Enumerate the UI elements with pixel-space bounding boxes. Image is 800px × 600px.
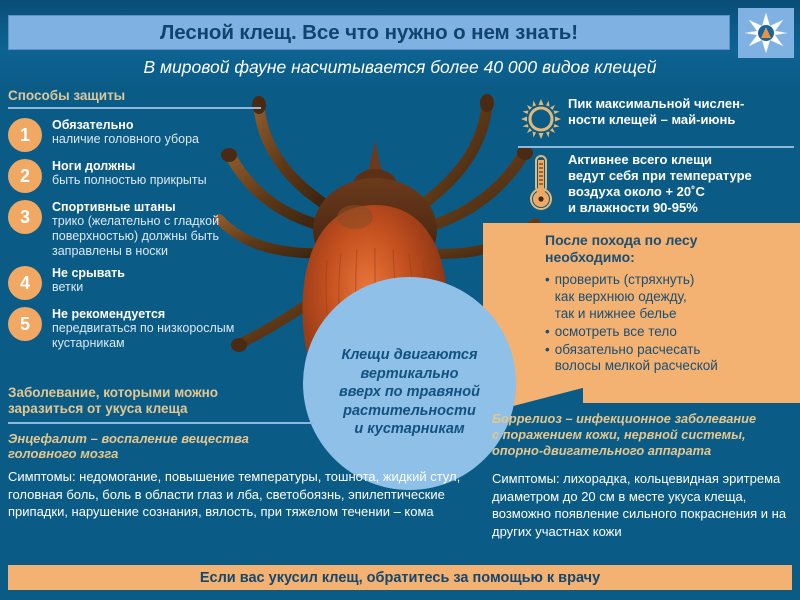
protection-item-detail: трико (желательно с гладкой поверхностью… [52,214,258,259]
protection-section: Способы защиты 1 Обязательно наличие гол… [8,88,258,357]
protection-item-number: 2 [8,159,42,193]
bullet-icon: • [545,342,550,376]
fact-row-temperature: Активнее всего клещиведут себя при темпе… [518,148,794,221]
thermometer-icon [518,152,564,212]
fact-text-temperature: Активнее всего клещиведут себя при темпе… [564,152,752,215]
emercom-logo [738,8,794,58]
protection-item: 5 Не рекомендуется передвигаться по низк… [8,306,258,351]
encephalitis-symptoms: Симптомы: недомогание, повышение темпера… [8,468,478,521]
diseases-section: Заболевание, которыми можнозаразиться от… [8,385,308,462]
protection-item: 1 Обязательно наличие головного убора [8,117,258,152]
infographic-poster: Лесной клещ. Все что нужно о нем знать! … [0,0,800,600]
divider [8,422,313,424]
after-walk-item-text: проверить (стряхнуть)как верхнюю одежду,… [555,272,695,323]
protection-item-number: 3 [8,200,42,234]
protection-item-detail: ветки [52,280,125,295]
sun-icon [518,96,564,140]
call-to-action-text: Если вас укусил клещ, обратитесь за помо… [200,570,600,586]
after-walk-list: • проверить (стряхнуть)как верхнюю одежд… [545,272,795,376]
protection-item-title: Ноги должны [52,159,207,173]
protection-item-title: Не срывать [52,266,125,280]
protection-item-title: Спортивные штаны [52,200,258,214]
protection-item-detail: передвигаться по низкорослым кустарникам [52,321,258,351]
after-walk-item-text: осмотреть все тело [555,324,677,341]
diseases-heading: Заболевание, которыми можнозаразиться от… [8,385,308,422]
divider [8,107,261,109]
bullet-icon: • [545,272,550,323]
after-walk-item-text: обязательно расчесатьволосы мелкой расче… [555,342,718,376]
after-walk-item: • обязательно расчесатьволосы мелкой рас… [545,342,795,376]
poster-subtitle: В мировой фауне насчитывается более 40 0… [0,57,800,78]
protection-item-title: Не рекомендуется [52,307,258,321]
fact-text-peak-season: Пик максимальной числен-ности клещей – м… [564,96,744,128]
protection-heading: Способы защиты [8,88,258,107]
protection-item: 3 Спортивные штаны трико (желательно с г… [8,199,258,259]
tick-movement-text: Клещи двигаютсявертикальновверх по травя… [339,328,480,439]
protection-item-detail: наличие головного убора [52,132,199,147]
poster-title-bar: Лесной клещ. Все что нужно о нем знать! [8,15,730,50]
facts-section: Пик максимальной числен-ности клещей – м… [518,92,794,221]
after-walk-item: • осмотреть все тело [545,324,795,341]
protection-item-detail: быть полностью прикрыты [52,173,207,188]
page-title: Лесной клещ. Все что нужно о нем знать! [160,21,578,45]
fact-row-peak-season: Пик максимальной числен-ности клещей – м… [518,92,794,146]
borreliosis-symptoms: Симптомы: лихорадка, кольцевидная эритре… [492,470,798,540]
borreliosis-title: Боррелиоз – инфекционное заболеваниес по… [492,411,800,459]
tick-movement-callout: Клещи двигаютсявертикальновверх по травя… [303,277,516,490]
call-to-action-banner: Если вас укусил клещ, обратитесь за помо… [8,565,792,590]
encephalitis-title: Энцефалит – воспаление веществаголовного… [8,431,308,462]
protection-item: 4 Не срывать ветки [8,265,258,300]
protection-item: 2 Ноги должны быть полностью прикрыты [8,158,258,193]
after-walk-title: После похода по лесунеобходимо: [545,232,697,266]
bullet-icon: • [545,324,550,341]
after-walk-item: • проверить (стряхнуть)как верхнюю одежд… [545,272,795,323]
emercom-star-icon [744,12,788,54]
protection-item-number: 5 [8,307,42,341]
protection-item-title: Обязательно [52,118,199,132]
protection-item-number: 4 [8,266,42,300]
protection-item-number: 1 [8,118,42,152]
